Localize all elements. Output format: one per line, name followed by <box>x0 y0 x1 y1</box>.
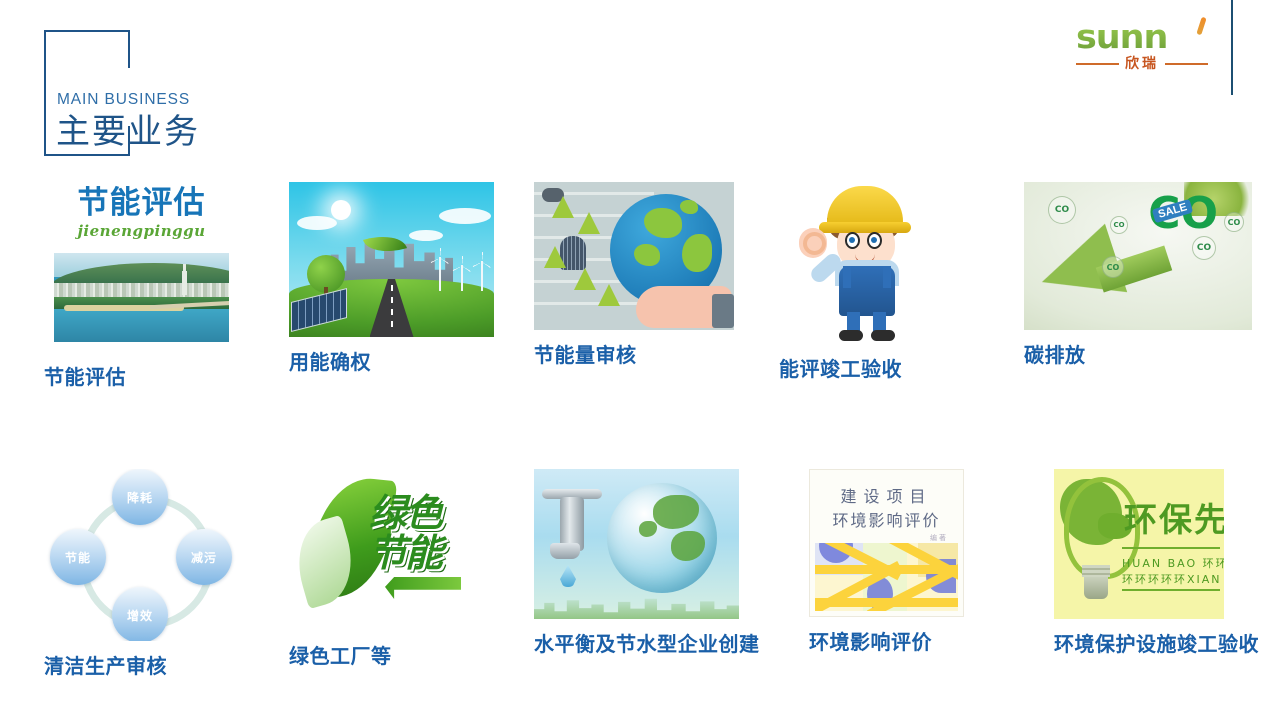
business-item-label: 环境保护设施竣工验收 <box>1054 631 1259 657</box>
cycle-node-right: 减污 <box>176 529 232 585</box>
business-item-water-balance[interactable]: 水平衡及节水型企业创建 <box>534 469 809 684</box>
book-cover-artwork <box>815 543 958 611</box>
co2-bubble-icon: CO <box>1224 212 1244 232</box>
cloud-icon <box>439 208 491 224</box>
hand-holding-earth-illustration-image <box>534 182 734 330</box>
co2-bubble-icon: CO <box>1048 196 1076 224</box>
continent-shape <box>680 200 698 214</box>
business-item-label: 绿色工厂等 <box>289 643 392 669</box>
business-item-label: 节能评估 <box>44 364 126 390</box>
photo-river <box>54 309 229 342</box>
wind-turbine-icon <box>481 261 483 291</box>
green-leaf-energy-logo-image: 绿色 节能 <box>289 469 484 631</box>
header-vertical-divider <box>1231 0 1233 95</box>
frame-right-top-edge <box>128 30 130 68</box>
bulb-base <box>1084 577 1108 599</box>
logo-text-line1: 绿色 <box>369 493 475 533</box>
wind-turbine-icon <box>439 257 441 291</box>
business-item-energy-saving-audit[interactable]: 节能量审核 <box>534 182 779 397</box>
hard-hat-icon <box>827 186 903 230</box>
worker-eye <box>845 232 860 249</box>
worker-eye <box>867 232 882 249</box>
business-item-green-factory[interactable]: 绿色 节能 绿色工厂等 <box>289 469 534 684</box>
poster-rule <box>1122 589 1220 591</box>
ok-ring <box>803 232 826 255</box>
business-item-environmental-facility-acceptance[interactable]: 环保先 HUAN BAO 环环环 环环环环环XIAN 环境保护设施竣工验收 <box>1054 469 1280 684</box>
slide-root: MAIN BUSINESS 主要业务 sunn 欣瑞 节能评估 jienengp… <box>0 0 1280 720</box>
logo-text: 绿色 节能 <box>369 493 475 573</box>
logo-wordmark: sunn <box>1076 20 1167 53</box>
logo-rule-left <box>1076 63 1119 65</box>
frame-left-edge <box>44 30 46 156</box>
business-item-label: 碳排放 <box>1024 342 1086 368</box>
eia-book-cover-image: 建设项目 环境影响评价 编著 <box>809 469 964 617</box>
page-title: 主要业务 <box>56 112 200 152</box>
company-logo: sunn 欣瑞 <box>1076 22 1208 80</box>
tree-icon <box>574 268 596 290</box>
business-item-clean-production-audit[interactable]: 降耗 减污 增效 节能 清洁生产审核 <box>44 469 289 684</box>
bulb-neck <box>1082 565 1110 577</box>
continent-shape <box>634 244 660 266</box>
continent-shape <box>682 234 712 272</box>
business-item-label: 环境影响评价 <box>809 629 932 655</box>
page-title-english: MAIN BUSINESS <box>57 91 190 109</box>
book-title-line2: 环境影响评价 <box>809 507 964 531</box>
business-item-label: 能评竣工验收 <box>779 356 902 382</box>
poster-pinyin-line1: HUAN BAO 环环环 <box>1122 555 1224 571</box>
faucet-water-globe-illustration-image <box>534 469 739 619</box>
business-item-label: 水平衡及节水型企业创建 <box>534 631 760 657</box>
tree-icon <box>552 196 574 218</box>
tree-icon <box>598 284 620 306</box>
frame-top-edge <box>44 30 130 32</box>
cloud-icon <box>409 230 443 241</box>
logo-subtitle: 欣瑞 <box>1076 56 1208 72</box>
logo-rule-right <box>1165 63 1208 65</box>
green-city-road-illustration-image <box>289 182 494 337</box>
art-bar <box>815 598 958 607</box>
poster-pinyin-line2: 环环环环环XIAN <box>1122 571 1222 587</box>
business-grid: 节能评估 jienengpinggu 节能评估 <box>0 182 1280 684</box>
environmental-protection-bulb-poster-image: 环保先 HUAN BAO 环环环 环环环环环XIAN <box>1054 469 1224 619</box>
page-title-block: MAIN BUSINESS 主要业务 <box>44 30 254 156</box>
cycle-node-bottom: 增效 <box>112 587 168 641</box>
frame-bottom-edge <box>44 154 130 156</box>
business-item-label: 用能确权 <box>289 349 371 375</box>
co2-bubble-icon: CO <box>1192 236 1216 260</box>
business-item-carbon-emission[interactable]: CO SALE CO CO CO CO CO 碳排放 <box>1024 182 1269 397</box>
cloud-icon <box>297 216 337 230</box>
poster-headline-text: 环保先 <box>1124 503 1224 537</box>
overall-strap <box>843 266 851 288</box>
business-item-energy-review-acceptance[interactable]: 能评竣工验收 <box>779 182 1024 397</box>
cycle-node-top: 降耗 <box>112 469 168 525</box>
wind-turbine-icon <box>461 265 463 291</box>
cycle-node-left: 节能 <box>50 529 106 585</box>
photo-city-skyline <box>54 283 229 297</box>
water-drop-icon <box>560 565 576 587</box>
energy-saving-assessment-poster-image: 节能评估 jienengpinggu <box>44 182 239 352</box>
logo-mark: sunn <box>1076 22 1208 56</box>
recycle-arrow-icon <box>385 577 461 599</box>
faucet-spout-icon <box>550 543 580 559</box>
business-row-2: 降耗 减污 增效 节能 清洁生产审核 绿色 节能 绿 <box>0 469 1280 684</box>
business-item-environmental-impact-assessment[interactable]: 建设项目 环境影响评价 编著 <box>809 469 1054 684</box>
logo-company-name-cn: 欣瑞 <box>1125 56 1159 72</box>
green-co2-arrow-photo-image: CO SALE CO CO CO CO CO <box>1024 182 1252 330</box>
tree-icon <box>578 212 600 234</box>
sleeve-cuff <box>712 294 734 328</box>
book-author-text: 编著 <box>930 533 948 543</box>
riverside-city-photo <box>54 253 229 342</box>
business-item-energy-saving-assessment[interactable]: 节能评估 jienengpinggu 节能评估 <box>44 182 289 397</box>
worker-shoe <box>839 330 863 341</box>
tree-icon <box>544 246 566 268</box>
poster-rule <box>1122 547 1220 549</box>
business-item-label: 清洁生产审核 <box>44 653 167 679</box>
city-silhouette <box>534 593 739 619</box>
logo-accent-icon <box>1196 17 1206 36</box>
co2-bubble-icon: CO <box>1110 216 1128 234</box>
photo-tower <box>182 271 187 295</box>
sun-icon <box>331 200 351 220</box>
overall-strap <box>883 266 891 288</box>
business-item-energy-use-rights[interactable]: 用能确权 <box>289 182 534 397</box>
poster-pinyin-text: jienengpinggu <box>44 223 239 240</box>
worker-shoe <box>871 330 895 341</box>
business-item-label: 节能量审核 <box>534 342 637 368</box>
poster-headline-text: 节能评估 <box>44 186 239 220</box>
book-title-line1: 建设项目 <box>809 483 964 507</box>
co2-bubble-icon: CO <box>1102 256 1124 278</box>
logo-text-line2: 节能 <box>369 533 475 573</box>
clean-production-cycle-diagram-image: 降耗 减污 增效 节能 <box>44 469 249 641</box>
business-row-1: 节能评估 jienengpinggu 节能评估 <box>0 182 1280 397</box>
construction-worker-cartoon-image <box>779 182 949 344</box>
